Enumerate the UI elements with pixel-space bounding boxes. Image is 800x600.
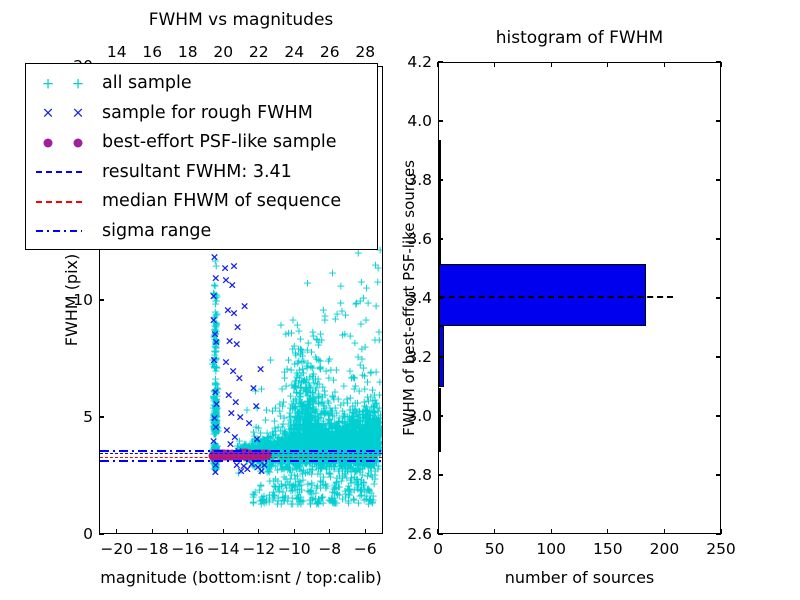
all-sample-point: +: [339, 430, 348, 441]
all-sample-point: +: [351, 428, 360, 439]
left-panel-title: FWHM vs magnitudes: [99, 10, 383, 30]
all-sample-point: +: [319, 439, 328, 450]
all-sample-point: +: [346, 439, 355, 450]
all-sample-point: +: [313, 373, 322, 384]
all-sample-point: +: [309, 433, 318, 444]
all-sample-point: +: [284, 440, 293, 451]
all-sample-point: +: [314, 339, 323, 350]
rough-fwhm-point: ×: [232, 339, 241, 350]
all-sample-point: +: [357, 481, 366, 492]
all-sample-point: +: [298, 474, 307, 485]
all-sample-point: +: [287, 398, 296, 409]
all-sample-point: +: [313, 421, 322, 432]
all-sample-point: +: [298, 408, 307, 419]
all-sample-point: +: [318, 431, 327, 442]
all-sample-point: +: [324, 437, 333, 448]
dashdot-line-icon: [36, 230, 82, 232]
all-sample-point: +: [318, 423, 327, 434]
all-sample-point: +: [370, 401, 379, 412]
all-sample-point: +: [354, 416, 363, 427]
all-sample-point: +: [272, 439, 281, 450]
all-sample-point: +: [298, 402, 307, 413]
all-sample-point: +: [348, 371, 357, 382]
all-sample-point: +: [211, 380, 220, 391]
all-sample-point: +: [209, 412, 218, 423]
all-sample-point: +: [291, 404, 300, 415]
all-sample-point: +: [212, 338, 221, 349]
all-sample-point: +: [368, 497, 377, 508]
all-sample-point: +: [368, 456, 377, 467]
all-sample-point: +: [359, 476, 368, 487]
all-sample-point: +: [210, 420, 219, 431]
all-sample-point: +: [350, 383, 359, 394]
all-sample-point: +: [259, 434, 268, 445]
all-sample-point: +: [298, 435, 307, 446]
all-sample-point: +: [291, 424, 300, 435]
all-sample-point: +: [307, 437, 316, 448]
all-sample-point: +: [364, 418, 373, 429]
all-sample-point: +: [304, 431, 313, 442]
sigma-range-upper-line: [100, 450, 382, 452]
all-sample-point: +: [210, 426, 219, 437]
all-sample-point: +: [369, 401, 378, 412]
all-sample-point: +: [343, 435, 352, 446]
legend-item: sigma range: [26, 217, 377, 247]
all-sample-point: +: [318, 461, 327, 472]
all-sample-point: +: [302, 401, 311, 412]
all-sample-point: +: [254, 423, 263, 434]
all-sample-point: +: [323, 396, 332, 407]
all-sample-point: +: [343, 419, 352, 430]
all-sample-point: +: [299, 367, 308, 378]
all-sample-point: +: [346, 423, 355, 434]
all-sample-point: +: [294, 428, 303, 439]
psf-like-point: [214, 451, 223, 460]
rough-fwhm-point: ×: [224, 389, 233, 400]
all-sample-point: +: [374, 428, 382, 439]
all-sample-point: +: [295, 463, 304, 474]
all-sample-point: +: [338, 433, 347, 444]
all-sample-point: +: [304, 410, 313, 421]
all-sample-point: +: [213, 422, 222, 433]
all-sample-point: +: [327, 421, 336, 432]
all-sample-point: +: [349, 423, 358, 434]
all-sample-point: +: [296, 344, 305, 355]
all-sample-point: +: [330, 439, 339, 450]
all-sample-point: +: [305, 443, 314, 454]
all-sample-point: +: [336, 439, 345, 450]
all-sample-point: +: [273, 421, 282, 432]
all-sample-point: +: [304, 426, 313, 437]
all-sample-point: +: [356, 433, 365, 444]
all-sample-point: +: [269, 437, 278, 448]
all-sample-point: +: [312, 424, 321, 435]
all-sample-point: +: [262, 435, 271, 446]
psf-like-point: [222, 451, 231, 460]
all-sample-point: +: [211, 327, 220, 338]
all-sample-point: +: [364, 462, 373, 473]
all-sample-point: +: [283, 493, 292, 504]
all-sample-point: +: [352, 406, 361, 417]
all-sample-point: +: [278, 437, 287, 448]
all-sample-point: +: [346, 438, 355, 449]
all-sample-point: +: [294, 427, 303, 438]
tick-mark: [365, 529, 366, 534]
all-sample-point: +: [294, 491, 303, 502]
all-sample-point: +: [337, 439, 346, 450]
all-sample-point: +: [303, 422, 312, 433]
all-sample-point: +: [324, 468, 333, 479]
all-sample-point: +: [308, 412, 317, 423]
all-sample-point: +: [294, 430, 303, 441]
all-sample-point: +: [330, 426, 339, 437]
all-sample-point: +: [331, 434, 340, 445]
all-sample-point: +: [292, 422, 301, 433]
all-sample-point: +: [341, 420, 350, 431]
all-sample-point: +: [294, 439, 303, 450]
all-sample-point: +: [343, 456, 352, 467]
all-sample-point: +: [264, 496, 273, 507]
all-sample-point: +: [256, 462, 265, 473]
all-sample-point: +: [314, 378, 323, 389]
all-sample-point: +: [359, 428, 368, 439]
all-sample-point: +: [325, 415, 334, 426]
all-sample-point: +: [369, 490, 378, 501]
all-sample-point: +: [289, 419, 298, 430]
all-sample-point: +: [211, 324, 220, 335]
all-sample-point: +: [306, 398, 315, 409]
all-sample-point: +: [349, 420, 358, 431]
all-sample-point: +: [335, 440, 344, 451]
all-sample-point: +: [356, 415, 365, 426]
all-sample-point: +: [321, 422, 330, 433]
all-sample-point: +: [328, 436, 337, 447]
all-sample-point: +: [323, 432, 332, 443]
all-sample-point: +: [270, 423, 279, 434]
all-sample-point: +: [292, 464, 301, 475]
all-sample-point: +: [318, 435, 327, 446]
all-sample-point: +: [371, 427, 380, 438]
all-sample-point: +: [305, 400, 314, 411]
all-sample-point: +: [275, 482, 284, 493]
all-sample-point: +: [347, 437, 356, 448]
all-sample-point: +: [354, 426, 363, 437]
all-sample-point: +: [364, 453, 373, 464]
all-sample-point: +: [316, 435, 325, 446]
all-sample-point: +: [312, 499, 321, 510]
all-sample-point: +: [292, 420, 301, 431]
all-sample-point: +: [304, 410, 313, 421]
all-sample-point: +: [304, 380, 313, 391]
all-sample-point: +: [317, 436, 326, 447]
all-sample-point: +: [363, 431, 372, 442]
all-sample-point: +: [211, 399, 220, 410]
all-sample-point: +: [273, 435, 282, 446]
all-sample-point: +: [337, 432, 346, 443]
all-sample-point: +: [289, 434, 298, 445]
all-sample-point: +: [265, 438, 274, 449]
all-sample-point: +: [366, 437, 375, 448]
all-sample-point: +: [371, 434, 380, 445]
all-sample-point: +: [270, 480, 279, 491]
all-sample-point: +: [347, 423, 356, 434]
all-sample-point: +: [299, 437, 308, 448]
all-sample-point: +: [300, 375, 309, 386]
all-sample-point: +: [340, 437, 349, 448]
all-sample-point: +: [348, 422, 357, 433]
all-sample-point: +: [354, 463, 363, 474]
all-sample-point: +: [353, 440, 362, 451]
all-sample-point: +: [210, 408, 219, 419]
all-sample-point: +: [316, 408, 325, 419]
all-sample-point: +: [302, 425, 311, 436]
all-sample-point: +: [316, 432, 325, 443]
all-sample-point: +: [359, 425, 368, 436]
all-sample-point: +: [298, 438, 307, 449]
all-sample-point: +: [324, 437, 333, 448]
all-sample-point: +: [347, 417, 356, 428]
all-sample-point: +: [357, 438, 366, 449]
all-sample-point: +: [323, 426, 332, 437]
all-sample-point: +: [366, 415, 375, 426]
all-sample-point: +: [366, 425, 375, 436]
plus-marker-icon: +: [42, 76, 55, 91]
all-sample-point: +: [353, 434, 362, 445]
all-sample-point: +: [341, 485, 350, 496]
all-sample-point: +: [361, 420, 370, 431]
all-sample-point: +: [357, 426, 366, 437]
all-sample-point: +: [273, 438, 282, 449]
rough-fwhm-point: ×: [240, 300, 249, 311]
all-sample-point: +: [303, 424, 312, 435]
all-sample-point: +: [211, 337, 220, 348]
all-sample-point: +: [321, 461, 330, 472]
all-sample-point: +: [305, 494, 314, 505]
all-sample-point: +: [270, 439, 279, 450]
all-sample-point: +: [265, 438, 274, 449]
all-sample-point: +: [341, 439, 350, 450]
all-sample-point: +: [211, 395, 220, 406]
all-sample-point: +: [353, 416, 362, 427]
all-sample-point: +: [212, 426, 221, 437]
all-sample-point: +: [306, 394, 315, 405]
all-sample-point: +: [253, 436, 262, 447]
legend-handle: [26, 158, 102, 188]
all-sample-point: +: [340, 469, 349, 480]
all-sample-point: +: [318, 492, 327, 503]
all-sample-point: +: [311, 428, 320, 439]
all-sample-point: +: [351, 439, 360, 450]
all-sample-point: +: [317, 492, 326, 503]
all-sample-point: +: [288, 314, 297, 325]
all-sample-point: +: [301, 384, 310, 395]
all-sample-point: +: [268, 439, 277, 450]
all-sample-point: +: [334, 426, 343, 437]
all-sample-point: +: [324, 356, 333, 367]
all-sample-point: +: [211, 419, 220, 430]
all-sample-point: +: [343, 433, 352, 444]
all-sample-point: +: [338, 436, 347, 447]
all-sample-point: +: [212, 414, 221, 425]
all-sample-point: +: [364, 433, 373, 444]
all-sample-point: +: [326, 436, 335, 447]
all-sample-point: +: [352, 474, 361, 485]
all-sample-point: +: [315, 429, 324, 440]
all-sample-point: +: [315, 437, 324, 448]
all-sample-point: +: [209, 439, 218, 450]
all-sample-point: +: [211, 342, 220, 353]
all-sample-point: +: [262, 404, 271, 415]
all-sample-point: +: [338, 426, 347, 437]
all-sample-point: +: [332, 497, 341, 508]
all-sample-point: +: [262, 438, 271, 449]
all-sample-point: +: [362, 490, 371, 501]
all-sample-point: +: [210, 463, 219, 474]
all-sample-point: +: [293, 438, 302, 449]
all-sample-point: +: [347, 427, 356, 438]
all-sample-point: +: [212, 388, 221, 399]
all-sample-point: +: [336, 434, 345, 445]
right-xtick-label: 0: [433, 540, 443, 558]
all-sample-point: +: [296, 383, 305, 394]
all-sample-point: +: [356, 434, 365, 445]
all-sample-point: +: [285, 411, 294, 422]
all-sample-point: +: [331, 482, 340, 493]
all-sample-point: +: [364, 411, 373, 422]
all-sample-point: +: [324, 408, 333, 419]
all-sample-point: +: [213, 384, 222, 395]
all-sample-point: +: [278, 435, 287, 446]
all-sample-point: +: [293, 430, 302, 441]
all-sample-point: +: [339, 411, 348, 422]
all-sample-point: +: [368, 425, 377, 436]
all-sample-point: +: [337, 424, 346, 435]
all-sample-point: +: [355, 436, 364, 447]
all-sample-point: +: [352, 429, 361, 440]
all-sample-point: +: [365, 410, 374, 421]
all-sample-point: +: [297, 407, 306, 418]
all-sample-point: +: [344, 434, 353, 445]
rough-fwhm-point: ×: [252, 434, 261, 445]
all-sample-point: +: [211, 336, 220, 347]
all-sample-point: +: [358, 439, 367, 450]
all-sample-point: +: [311, 493, 320, 504]
all-sample-point: +: [375, 439, 382, 450]
all-sample-point: +: [296, 391, 305, 402]
all-sample-point: +: [360, 457, 369, 468]
all-sample-point: +: [356, 295, 365, 306]
all-sample-point: +: [290, 431, 299, 442]
all-sample-point: +: [329, 483, 338, 494]
all-sample-point: +: [281, 462, 290, 473]
legend-handle: [26, 128, 102, 158]
all-sample-point: +: [343, 428, 352, 439]
all-sample-point: +: [369, 427, 378, 438]
all-sample-point: +: [309, 396, 318, 407]
all-sample-point: +: [311, 429, 320, 440]
all-sample-point: +: [353, 436, 362, 447]
all-sample-point: +: [355, 438, 364, 449]
all-sample-point: +: [342, 421, 351, 432]
all-sample-point: +: [308, 373, 317, 384]
all-sample-point: +: [311, 406, 320, 417]
all-sample-point: +: [332, 433, 341, 444]
all-sample-point: +: [327, 436, 336, 447]
all-sample-point: +: [308, 401, 317, 412]
all-sample-point: +: [296, 426, 305, 437]
all-sample-point: +: [356, 435, 365, 446]
all-sample-point: +: [306, 434, 315, 445]
all-sample-point: +: [265, 475, 274, 486]
all-sample-point: +: [275, 398, 284, 409]
all-sample-point: +: [317, 460, 326, 471]
all-sample-point: +: [263, 432, 272, 443]
all-sample-point: +: [326, 432, 335, 443]
all-sample-point: +: [354, 434, 363, 445]
all-sample-point: +: [318, 428, 327, 439]
all-sample-point: +: [371, 417, 380, 428]
tick-mark: [438, 356, 443, 357]
all-sample-point: +: [301, 433, 310, 444]
all-sample-point: +: [210, 414, 219, 425]
all-sample-point: +: [312, 430, 321, 441]
all-sample-point: +: [292, 415, 301, 426]
all-sample-point: +: [212, 456, 221, 467]
all-sample-point: +: [370, 428, 379, 439]
all-sample-point: +: [345, 412, 354, 423]
all-sample-point: +: [362, 422, 371, 433]
all-sample-point: +: [309, 428, 318, 439]
all-sample-point: +: [294, 397, 303, 408]
rough-fwhm-point: ×: [229, 307, 238, 318]
all-sample-point: +: [211, 378, 220, 389]
all-sample-point: +: [322, 434, 331, 445]
all-sample-point: +: [311, 427, 320, 438]
all-sample-point: +: [319, 453, 328, 464]
all-sample-point: +: [354, 431, 363, 442]
tick-mark: [607, 529, 608, 534]
all-sample-point: +: [210, 425, 219, 436]
all-sample-point: +: [309, 434, 318, 445]
all-sample-point: +: [300, 427, 309, 438]
all-sample-point: +: [301, 405, 310, 416]
all-sample-point: +: [209, 408, 218, 419]
all-sample-point: +: [337, 437, 346, 448]
all-sample-point: +: [320, 429, 329, 440]
all-sample-point: +: [307, 413, 316, 424]
all-sample-point: +: [326, 440, 335, 451]
all-sample-point: +: [361, 427, 370, 438]
all-sample-point: +: [370, 390, 379, 401]
all-sample-point: +: [329, 374, 338, 385]
all-sample-point: +: [312, 434, 321, 445]
all-sample-point: +: [302, 418, 311, 429]
all-sample-point: +: [265, 492, 274, 503]
all-sample-point: +: [363, 470, 372, 481]
all-sample-point: +: [295, 418, 304, 429]
all-sample-point: +: [315, 437, 324, 448]
tick-mark: [329, 529, 330, 534]
all-sample-point: +: [209, 418, 218, 429]
all-sample-point: +: [297, 437, 306, 448]
all-sample-point: +: [349, 408, 358, 419]
all-sample-point: +: [281, 437, 290, 448]
all-sample-point: +: [269, 476, 278, 487]
all-sample-point: +: [360, 371, 369, 382]
all-sample-point: +: [296, 348, 305, 359]
all-sample-point: +: [368, 415, 377, 426]
all-sample-point: +: [316, 356, 325, 367]
